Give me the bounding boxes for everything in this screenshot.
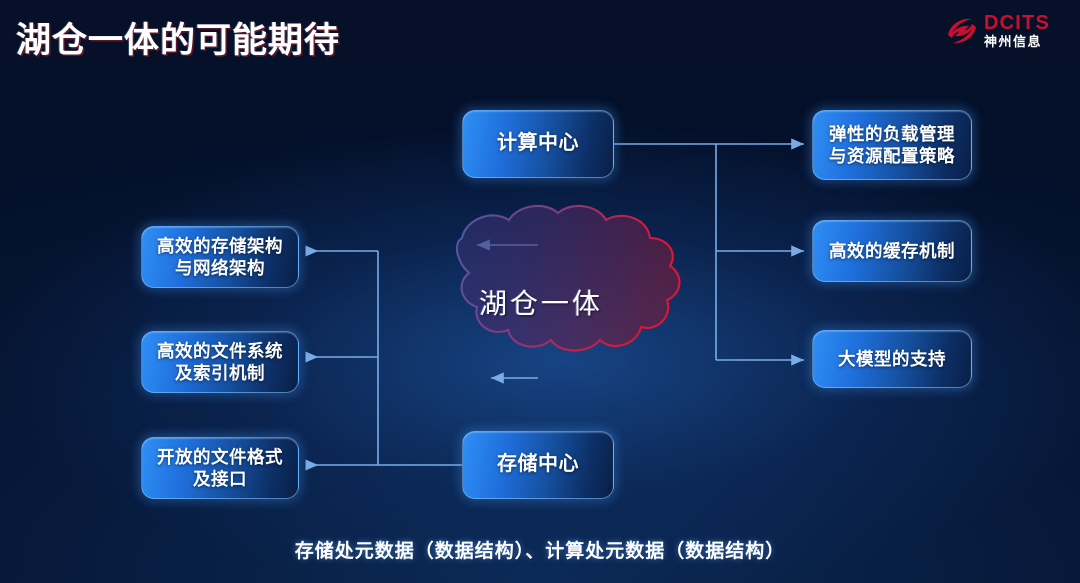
node-left-open-file-format[interactable]: 开放的文件格式及接口 [141,437,299,499]
logo-wordmark: DCITS 神州信息 [984,13,1064,50]
node-left-2-label: 高效的文件系统及索引机制 [152,340,288,385]
cloud-label: 湖仓一体 [408,282,674,322]
node-left-file-system[interactable]: 高效的文件系统及索引机制 [141,331,299,393]
node-right-cache-mechanism[interactable]: 高效的缓存机制 [812,220,972,282]
node-compute-center[interactable]: 计算中心 [462,110,614,178]
page-title: 湖仓一体的可能期待 [16,12,340,63]
logo-en-text: DCITS [984,13,1064,34]
node-right-large-model-support[interactable]: 大模型的支持 [812,330,972,388]
node-right-elastic-workload[interactable]: 弹性的负载管理与资源配置策略 [812,110,972,180]
dcits-swoosh-icon [944,15,980,47]
node-left-3-label: 开放的文件格式及接口 [152,446,288,491]
footer-note: 存储处元数据（数据结构）、计算处元数据（数据结构） [0,536,1080,563]
logo-cn-text: 神州信息 [984,34,1064,50]
slide-canvas: 湖仓一体的可能期待 DCITS 神州信息 [0,0,1080,583]
node-storage-label: 存储中心 [497,452,579,478]
node-left-1-label: 高效的存储架构与网络架构 [152,235,288,280]
node-right-3-label: 大模型的支持 [838,348,946,370]
node-right-1-label: 弹性的负载管理与资源配置策略 [823,123,961,168]
node-compute-label: 计算中心 [497,131,579,157]
cloud-center-node: 湖仓一体 [408,210,674,400]
node-left-storage-architecture[interactable]: 高效的存储架构与网络架构 [141,226,299,288]
node-storage-center[interactable]: 存储中心 [462,431,614,499]
node-right-2-label: 高效的缓存机制 [829,240,955,262]
brand-logo: DCITS 神州信息 [944,12,1064,58]
